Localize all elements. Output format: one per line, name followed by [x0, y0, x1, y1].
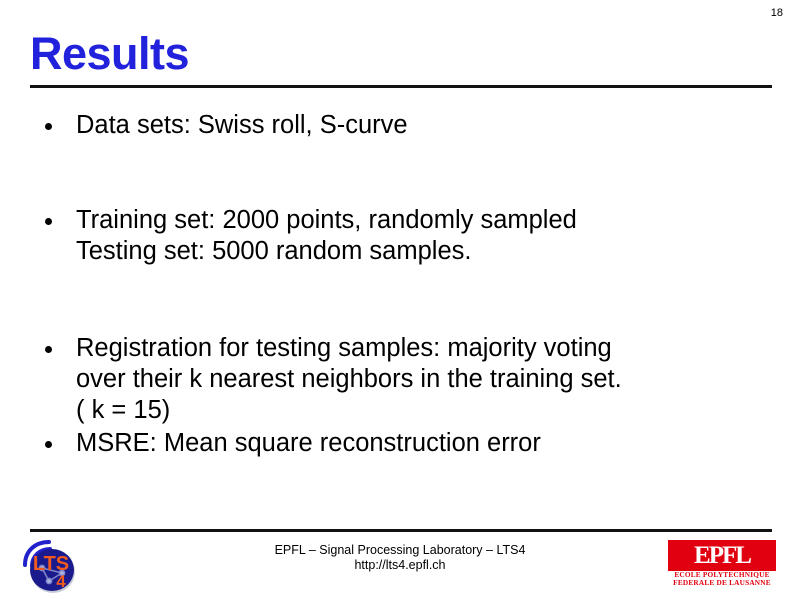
- epfl-wordmark: EPFL: [668, 541, 776, 570]
- spacer: [38, 267, 768, 333]
- epfl-logo: EPFL ECOLE POLYTECHNIQUE FEDERALE DE LAU…: [668, 540, 776, 588]
- list-item-line: Registration for testing samples: majori…: [76, 333, 768, 364]
- list-item-line: Training set: 2000 points, randomly samp…: [76, 205, 768, 236]
- bullet-dot-icon: [45, 123, 52, 130]
- list-item: Data sets: Swiss roll, S-curve: [38, 110, 768, 141]
- list-item-line: ( k = 15): [76, 395, 768, 426]
- lts4-logo: LTS 4: [19, 539, 81, 595]
- list-item-line: Testing set: 5000 random samples.: [76, 236, 768, 267]
- page-title: Results: [30, 30, 189, 77]
- list-item-line: Data sets: Swiss roll, S-curve: [76, 110, 768, 141]
- list-item-line: over their k nearest neighbors in the tr…: [76, 364, 768, 395]
- list-item-line: MSRE: Mean square reconstruction error: [76, 428, 768, 459]
- slide: 18 Results Data sets: Swiss roll, S-curv…: [0, 0, 800, 599]
- bullet-dot-icon: [45, 346, 52, 353]
- title-divider: [30, 85, 772, 88]
- list-item: MSRE: Mean square reconstruction error: [38, 428, 768, 459]
- list-item: Registration for testing samples: majori…: [38, 333, 768, 426]
- footer-divider: [30, 529, 772, 532]
- lts4-numeral: 4: [56, 572, 66, 591]
- page-number: 18: [771, 8, 783, 19]
- spacer: [38, 141, 768, 205]
- bullet-dot-icon: [45, 441, 52, 448]
- list-item: Training set: 2000 points, randomly samp…: [38, 205, 768, 267]
- bullet-dot-icon: [45, 218, 52, 225]
- bullet-list: Data sets: Swiss roll, S-curve Training …: [38, 110, 768, 459]
- epfl-subtitle-line-2: FEDERALE DE LAUSANNE: [668, 579, 776, 587]
